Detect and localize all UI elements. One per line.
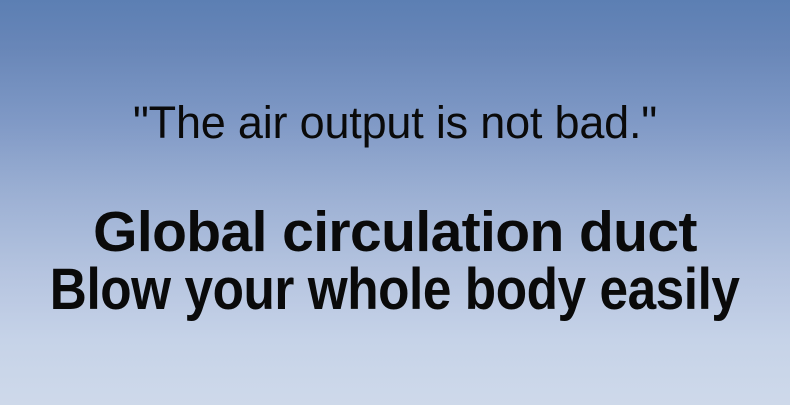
- headline-secondary: Blow your whole body easily: [0, 261, 790, 319]
- customer-quote-text: "The air output is not bad.": [0, 100, 790, 145]
- banner-text-stack: "The air output is not bad." Global circ…: [0, 0, 790, 405]
- headline-primary-text: Global circulation duct: [0, 204, 790, 261]
- headline-secondary-text: Blow your whole body easily: [50, 261, 740, 319]
- promo-banner: "The air output is not bad." Global circ…: [0, 0, 790, 405]
